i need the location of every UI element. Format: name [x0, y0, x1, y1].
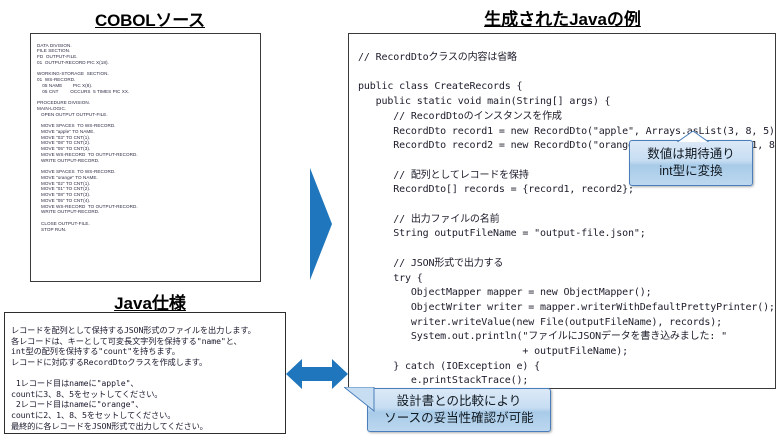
callout-validity-check-line2: ソースの妥当性確認が可能 — [384, 410, 533, 427]
java-specification-panel: レコードを配列として保持するJSON形式のファイルを出力します。 各レコードは、… — [4, 312, 286, 434]
page-title-generated-java: 生成されたJavaの例 — [345, 5, 780, 30]
callout-int-conversion-line2: int型に変換 — [659, 163, 722, 180]
generated-java-code: // RecordDtoクラスの内容は省略 public class Creat… — [358, 51, 776, 389]
generated-java-panel: // RecordDtoクラスの内容は省略 public class Creat… — [348, 33, 776, 389]
cobol-source-code: DATA DIVISION. FILE SECTION. FD OUTPUT-F… — [37, 43, 138, 233]
callout-int-conversion-line1: 数値は期待通り — [647, 146, 735, 163]
cobol-source-panel: DATA DIVISION. FILE SECTION. FD OUTPUT-F… — [30, 33, 261, 282]
arrow-spec-java-bidirectional-icon — [286, 356, 348, 392]
callout-validity-check-line1: 設計書との比較により — [397, 393, 522, 410]
page-title-cobol-source: COBOLソース — [0, 6, 300, 31]
arrow-cobol-to-java-icon — [300, 168, 340, 280]
callout-validity-check: 設計書との比較により ソースの妥当性確認が可能 — [367, 388, 551, 432]
java-specification-text: レコードを配列として保持するJSON形式のファイルを出力します。 各レコードは、… — [11, 325, 256, 431]
callout-tail-icon — [676, 131, 710, 142]
page-title-java-specification: Java仕様 — [0, 289, 300, 314]
callout-tail-icon — [344, 387, 374, 411]
callout-int-conversion: 数値は期待通り int型に変換 — [629, 140, 753, 186]
